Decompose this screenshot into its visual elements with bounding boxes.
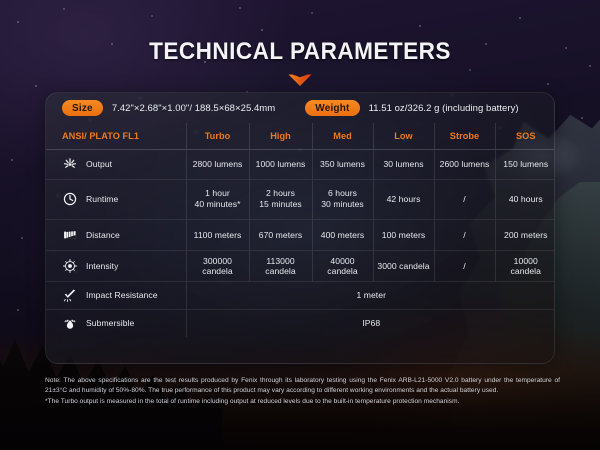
row-label-text: Intensity [86, 261, 118, 271]
cell-distance-sos: 200 meters [495, 219, 555, 250]
row-label-text: Submersible [86, 318, 134, 328]
cell-submersible-value: IP68 [186, 309, 555, 337]
row-label-distance: Distance [46, 219, 186, 250]
table-header-row: ANSI/ PLATO FL1 Turbo High Med Low Strob… [46, 123, 555, 149]
page-background: TECHNICAL PARAMETERS Size 7.42"×2.68"×1.… [0, 0, 600, 450]
table-row: Output 2800 lumens 1000 lumens 350 lumen… [46, 149, 555, 179]
column-header-med: Med [312, 123, 373, 149]
cell-distance-med: 400 meters [312, 219, 373, 250]
cell-intensity-med: 40000 candela [312, 250, 373, 281]
cell-intensity-low: 3000 candela [373, 250, 434, 281]
weight-group: Weight 11.51 oz/326.2 g (including batte… [305, 100, 518, 116]
cell-intensity-sos: 10000 candela [495, 250, 555, 281]
page-title: TECHNICAL PARAMETERS [18, 38, 582, 66]
impact-hammer-icon [62, 287, 78, 303]
cell-runtime-low: 42 hours [373, 179, 434, 219]
row-label-intensity: Intensity [46, 250, 186, 281]
table-row: Runtime 1 hour40 minutes* 2 hours15 minu… [46, 179, 555, 219]
cell-output-med: 350 lumens [312, 149, 373, 179]
column-header-high: High [249, 123, 312, 149]
clock-icon [62, 191, 78, 207]
table-header: ANSI/ PLATO FL1 Turbo High Med Low Strob… [46, 123, 555, 149]
cell-runtime-med: 6 hours30 minutes [312, 179, 373, 219]
cell-output-low: 30 lumens [373, 149, 434, 179]
row-label-impact-resistance: Impact Resistance [46, 281, 186, 309]
chevron-down-icon [287, 73, 313, 88]
cell-runtime-high: 2 hours15 minutes [249, 179, 312, 219]
cell-impact-resistance-value: 1 meter [186, 281, 555, 309]
column-header-sos: SOS [495, 123, 555, 149]
intensity-target-icon [62, 258, 78, 274]
water-drop-icon [62, 315, 78, 331]
table-row: Distance 1100 meters 670 meters 400 mete… [46, 219, 555, 250]
specifications-table: ANSI/ PLATO FL1 Turbo High Med Low Strob… [46, 123, 555, 337]
cell-distance-high: 670 meters [249, 219, 312, 250]
cell-distance-turbo: 1100 meters [186, 219, 249, 250]
size-value: 7.42"×2.68"×1.00"/ 188.5×68×25.4mm [112, 103, 275, 114]
cell-output-high: 1000 lumens [249, 149, 312, 179]
column-header-turbo: Turbo [186, 123, 249, 149]
column-header-ansi: ANSI/ PLATO FL1 [46, 123, 186, 149]
summary-row: Size 7.42"×2.68"×1.00"/ 188.5×68×25.4mm … [46, 93, 554, 123]
row-label-text: Distance [86, 230, 120, 240]
cell-runtime-sos: 40 hours [495, 179, 555, 219]
spec-card: Size 7.42"×2.68"×1.00"/ 188.5×68×25.4mm … [45, 92, 555, 364]
table-row: Submersible IP68 [46, 309, 555, 337]
row-label-output: Output [46, 149, 186, 179]
table-row: Intensity 300000 candela 113000 candela … [46, 250, 555, 281]
cell-output-turbo: 2800 lumens [186, 149, 249, 179]
beam-distance-icon [62, 227, 78, 243]
cell-intensity-turbo: 300000 candela [186, 250, 249, 281]
table-body: Output 2800 lumens 1000 lumens 350 lumen… [46, 149, 555, 337]
cell-distance-low: 100 meters [373, 219, 434, 250]
row-label-text: Output [86, 159, 112, 169]
cell-runtime-turbo: 1 hour40 minutes* [186, 179, 249, 219]
light-burst-icon [62, 156, 78, 172]
row-label-runtime: Runtime [46, 179, 186, 219]
cell-intensity-high: 113000 candela [249, 250, 312, 281]
row-label-submersible: Submersible [46, 309, 186, 337]
weight-badge: Weight [305, 100, 359, 116]
column-header-low: Low [373, 123, 434, 149]
cell-distance-strobe: / [434, 219, 495, 250]
weight-value: 11.51 oz/326.2 g (including battery) [369, 103, 519, 114]
row-label-text: Runtime [86, 194, 118, 204]
cell-intensity-strobe: / [434, 250, 495, 281]
column-header-strobe: Strobe [434, 123, 495, 149]
cell-output-strobe: 2600 lumens [434, 149, 495, 179]
cell-output-sos: 150 lumens [495, 149, 555, 179]
size-badge: Size [62, 100, 103, 116]
footnote: Note: The above specifications are the t… [45, 376, 560, 407]
footnote-line-1: Note: The above specifications are the t… [45, 376, 560, 397]
title-block: TECHNICAL PARAMETERS [0, 38, 600, 88]
footnote-line-2: *The Turbo output is measured in the tot… [45, 397, 560, 407]
cell-runtime-strobe: / [434, 179, 495, 219]
row-label-text: Impact Resistance [86, 290, 158, 300]
table-row: Impact Resistance 1 meter [46, 281, 555, 309]
